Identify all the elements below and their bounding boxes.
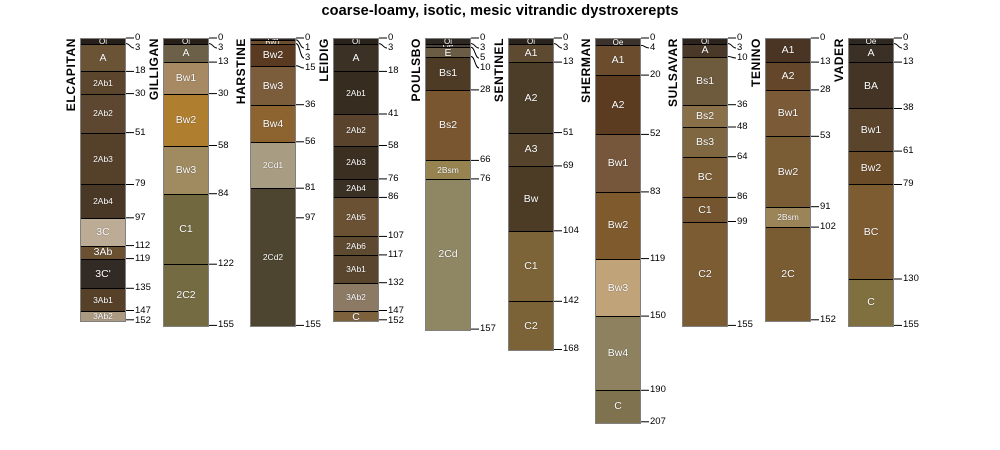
horizon-segment[interactable]: 2Cd1	[251, 143, 295, 189]
horizon-segment[interactable]: Bw3	[164, 147, 208, 195]
depth-tick-label: 157	[480, 324, 496, 334]
horizon-label: BC	[849, 227, 893, 238]
horizon-label: Bw3	[251, 81, 295, 92]
horizon-label: Bw1	[164, 73, 208, 84]
horizon-segment[interactable]: 2Ab3	[81, 134, 125, 186]
horizon-label: Oe	[596, 39, 640, 46]
depth-tick-label: 155	[305, 320, 321, 330]
horizon-segment[interactable]: 2Ab1	[334, 72, 378, 115]
horizon-segment[interactable]: Bw2	[251, 45, 295, 67]
profile-name-label: SHERMAN	[579, 38, 593, 103]
depth-tick-label: 20	[650, 70, 661, 80]
horizon-label: A	[683, 45, 727, 56]
page-title: coarse-loamy, isotic, mesic vitrandic dy…	[0, 3, 1000, 19]
profile-bar: OeA1A2Bw1Bw2Bw3Bw4C	[595, 38, 641, 424]
horizon-label: 2C2	[164, 290, 208, 301]
horizon-segment[interactable]: Bw2	[596, 193, 640, 260]
soil-profile-chart: coarse-loamy, isotic, mesic vitrandic dy…	[0, 0, 1000, 450]
horizon-segment[interactable]: Bw1	[849, 109, 893, 152]
horizon-segment[interactable]: 2Ab2	[334, 115, 378, 147]
horizon-segment[interactable]: C	[596, 391, 640, 423]
depth-tick-label: 79	[135, 179, 146, 189]
depth-tick-label: 51	[563, 128, 574, 138]
depth-tick-label: 28	[480, 85, 491, 95]
horizon-segment[interactable]: Bw4	[251, 106, 295, 143]
depth-tick-label: 91	[820, 202, 831, 212]
horizon-label: A1	[596, 55, 640, 66]
horizon-label: 2Ab1	[334, 89, 378, 98]
horizon-label: Bw	[509, 194, 553, 205]
horizon-segment[interactable]: 2Ab2	[81, 95, 125, 134]
horizon-label: Bs1	[683, 76, 727, 87]
profile-bar: A1A2Bw1Bw22Bsm2C	[765, 38, 811, 322]
depth-tick-label: 130	[903, 274, 919, 284]
depth-tick-label: 13	[903, 57, 914, 67]
depth-tick-label: 102	[820, 222, 836, 232]
profile-name-label: POULSBO	[409, 38, 423, 102]
horizon-segment[interactable]: Bw	[509, 167, 553, 232]
horizon-segment[interactable]: A	[849, 45, 893, 64]
horizon-label: 2Bsm	[766, 213, 810, 222]
horizon-segment[interactable]: 2Bsm	[766, 208, 810, 228]
horizon-label: 3Ab2	[334, 293, 378, 302]
horizon-segment[interactable]: C2	[509, 302, 553, 350]
horizon-label: 3Ab2	[81, 312, 125, 321]
horizon-segment[interactable]: 2Bsm	[426, 161, 470, 180]
horizon-segment[interactable]: A	[683, 45, 727, 58]
horizon-label: C2	[509, 321, 553, 332]
horizon-label: 3Ab1	[81, 296, 125, 305]
horizon-segment[interactable]: A2	[509, 63, 553, 133]
depth-tick-label: 99	[737, 217, 748, 227]
profile-name-label: SENTINEL	[492, 38, 506, 102]
horizon-label: 2Ab3	[81, 155, 125, 164]
profile-bar: OiA1A2A3BwC1C2	[508, 38, 554, 351]
depth-tick-label: 58	[218, 141, 229, 151]
depth-tick-label: 147	[135, 306, 151, 316]
depth-tick-label: 142	[563, 296, 579, 306]
depth-tick-label: 10	[737, 53, 748, 63]
depth-tick-label: 207	[650, 417, 666, 427]
horizon-label: 2Ab4	[334, 184, 378, 193]
horizon-segment[interactable]: BC	[683, 158, 727, 199]
horizon-label: 2Ab4	[81, 197, 125, 206]
horizon-label: 2Ab5	[334, 213, 378, 222]
depth-tick-label: 84	[218, 189, 229, 199]
horizon-label: 2Cd2	[251, 253, 295, 262]
horizon-segment[interactable]: 3Ab	[81, 247, 125, 260]
depth-tick-label: 76	[480, 174, 491, 184]
horizon-label: BC	[683, 172, 727, 183]
profile-bar: OiABs1Bs2Bs3BCC1C2	[682, 38, 728, 327]
horizon-label: 2Ab6	[334, 242, 378, 251]
horizon-label: C	[849, 297, 893, 308]
horizon-label: 3Ab	[81, 247, 125, 258]
horizon-label: C	[596, 401, 640, 412]
horizon-label: A3	[509, 144, 553, 155]
horizon-segment[interactable]: Bs3	[683, 128, 727, 158]
depth-tick-label: 76	[388, 174, 399, 184]
horizon-segment[interactable]: Bw3	[251, 67, 295, 106]
profile-bar: OiA2Ab12Ab22Ab32Ab43C3Ab3C'3Ab13Ab2	[80, 38, 126, 322]
horizon-segment[interactable]: 3C'	[81, 260, 125, 290]
horizon-segment[interactable]: 2Ab3	[334, 147, 378, 180]
depth-tick-label: 152	[135, 316, 151, 326]
horizon-label: 2Cd1	[251, 161, 295, 170]
depth-tick-label: 4	[650, 43, 655, 53]
depth-tick-label: 30	[218, 89, 229, 99]
horizon-label: Bw2	[766, 167, 810, 178]
horizon-label: BA	[849, 81, 893, 92]
horizon-segment[interactable]: C	[334, 312, 378, 321]
depth-tick-label: 86	[737, 192, 748, 202]
profile-bar: OiOeEBs1Bs22Bsm2Cd	[425, 38, 471, 331]
horizon-segment[interactable]: Bw1	[596, 135, 640, 192]
depth-tick-label: 3	[218, 43, 223, 53]
horizon-label: Bw3	[164, 165, 208, 176]
depth-tick-label: 79	[903, 179, 914, 189]
horizon-segment[interactable]: C	[849, 280, 893, 326]
horizon-segment[interactable]: Bw1	[766, 91, 810, 137]
depth-tick-label: 135	[135, 283, 151, 293]
horizon-label: A2	[509, 93, 553, 104]
horizon-label: Bw2	[596, 220, 640, 231]
horizon-segment[interactable]: C2	[683, 223, 727, 327]
depth-tick-label: 10	[480, 63, 491, 73]
horizon-segment[interactable]: A	[81, 45, 125, 73]
depth-tick-label: 13	[218, 57, 229, 67]
horizon-segment[interactable]: A1	[509, 45, 553, 64]
depth-tick-label: 58	[388, 141, 399, 151]
horizon-label: C1	[509, 261, 553, 272]
horizon-segment[interactable]: 2Ab5	[334, 198, 378, 237]
depth-tick-label: 3	[388, 43, 393, 53]
horizon-segment[interactable]: Bw2	[849, 152, 893, 185]
depth-tick-label: 147	[388, 306, 404, 316]
horizon-label: Bs2	[683, 111, 727, 122]
horizon-segment[interactable]: 2Ab6	[334, 237, 378, 256]
depth-tick-label: 69	[563, 161, 574, 171]
horizon-segment[interactable]: A	[334, 45, 378, 73]
horizon-segment[interactable]: Bw1	[164, 63, 208, 95]
depth-tick-label: 97	[305, 213, 316, 223]
horizon-segment[interactable]: Bw4	[596, 317, 640, 391]
profile-name-label: GILLIGAN	[147, 38, 161, 100]
horizon-segment[interactable]: 3Ab2	[81, 312, 125, 321]
horizon-label: 2Ab2	[81, 109, 125, 118]
horizon-segment[interactable]: Oe	[596, 39, 640, 46]
profile-name-label: VADER	[832, 38, 846, 82]
depth-tick-label: 18	[388, 66, 399, 76]
horizon-label: 3C	[81, 227, 125, 238]
horizon-label: Bw1	[766, 108, 810, 119]
profile-bar: OeABABw1Bw2BCC	[848, 38, 894, 327]
horizon-label: Bw4	[596, 348, 640, 359]
horizon-label: A1	[509, 48, 553, 59]
horizon-segment[interactable]: A3	[509, 134, 553, 167]
horizon-label: Bw2	[164, 115, 208, 126]
depth-tick-label: 132	[388, 278, 404, 288]
horizon-label: 3Ab1	[334, 265, 378, 274]
horizon-label: 2Cd	[426, 249, 470, 260]
horizon-segment[interactable]: A1	[596, 46, 640, 76]
profile-name-label: HARSTINE	[234, 38, 248, 104]
depth-tick-label: 119	[135, 254, 150, 264]
horizon-label: A	[81, 53, 125, 64]
depth-tick-label: 18	[135, 66, 146, 76]
depth-tick-label: 83	[650, 187, 661, 197]
horizon-segment[interactable]: Bs2	[683, 106, 727, 128]
horizon-label: A	[849, 48, 893, 59]
horizon-label: Bw4	[251, 119, 295, 130]
depth-tick-label: 48	[737, 122, 748, 132]
depth-tick-label: 15	[305, 63, 316, 73]
depth-axis-leaders	[894, 0, 934, 450]
horizon-label: Bw2	[849, 163, 893, 174]
depth-tick-label: 81	[305, 183, 316, 193]
depth-tick-label: 0	[820, 33, 825, 43]
depth-tick-label: 190	[650, 385, 666, 395]
horizon-label: Bw3	[596, 283, 640, 294]
depth-tick-label: 61	[903, 146, 914, 156]
horizon-label: A1	[766, 45, 810, 56]
depth-tick-label: 28	[820, 85, 831, 95]
depth-tick-label: 56	[305, 137, 316, 147]
horizon-segment[interactable]: Bs1	[683, 58, 727, 106]
profile-name-label: SULSAVAR	[666, 38, 680, 107]
depth-tick-label: 150	[650, 311, 666, 321]
horizon-segment[interactable]: Bw2	[164, 95, 208, 147]
horizon-label: 2C	[766, 269, 810, 280]
horizon-label: C1	[683, 205, 727, 216]
depth-tick-label: 152	[388, 316, 404, 326]
profile-bar: OiABw1Bw2Bw3C12C2	[163, 38, 209, 327]
depth-tick-label: 155	[903, 320, 919, 330]
horizon-label: C	[334, 312, 378, 321]
depth-tick-label: 41	[388, 109, 399, 119]
profile-name-label: ELCAPITAN	[64, 38, 78, 111]
depth-tick-label: 66	[480, 155, 491, 165]
profile-name-label: TENINO	[749, 38, 763, 87]
horizon-label: C2	[683, 269, 727, 280]
depth-tick-label: 53	[820, 131, 831, 141]
depth-tick-label: 36	[305, 100, 316, 110]
horizon-label: A2	[596, 100, 640, 111]
horizon-segment[interactable]: BC	[849, 185, 893, 280]
depth-tick-label: 3	[563, 43, 568, 53]
horizon-segment[interactable]: C1	[509, 232, 553, 302]
depth-tick-label: 13	[820, 57, 831, 67]
depth-tick-label: 51	[135, 128, 146, 138]
horizon-segment[interactable]: 2Ab4	[81, 185, 125, 218]
horizon-segment[interactable]: 2Ab1	[81, 72, 125, 94]
horizon-label: 2Ab1	[81, 79, 125, 88]
depth-tick-label: 86	[388, 192, 399, 202]
horizon-segment[interactable]: 2Ab4	[334, 180, 378, 199]
horizon-segment[interactable]: 2Cd2	[251, 189, 295, 326]
profile-bar: OeBw1Bw2Bw3Bw42Cd12Cd2	[250, 38, 296, 327]
depth-tick-label: 36	[737, 100, 748, 110]
horizon-label: E	[426, 48, 470, 57]
depth-tick-label: 155	[218, 320, 234, 330]
depth-tick-label: 107	[388, 231, 404, 241]
horizon-segment[interactable]: 3C	[81, 219, 125, 247]
horizon-segment[interactable]: 2C	[766, 228, 810, 321]
profile-name-label: LEIDIG	[317, 38, 331, 82]
horizon-label: A2	[766, 71, 810, 82]
horizon-segment[interactable]: 3Ab2	[334, 284, 378, 312]
horizon-label: 3C'	[81, 269, 125, 280]
depth-tick-label: 104	[563, 226, 579, 236]
horizon-segment[interactable]: C1	[164, 195, 208, 265]
depth-tick-label: 155	[737, 320, 753, 330]
depth-tick-label: 122	[218, 259, 234, 269]
horizon-segment[interactable]: A	[164, 45, 208, 64]
horizon-label: A	[164, 48, 208, 59]
depth-tick-label: 3	[135, 43, 140, 53]
horizon-label: Bw2	[251, 50, 295, 61]
horizon-segment[interactable]: BA	[849, 63, 893, 109]
horizon-label: Bs2	[426, 120, 470, 131]
horizon-label: Bw1	[849, 125, 893, 136]
horizon-segment[interactable]: C1	[683, 198, 727, 222]
depth-tick-label: 30	[135, 89, 146, 99]
horizon-segment[interactable]: 2Cd	[426, 180, 470, 330]
depth-tick-label: 3	[903, 43, 908, 53]
profile-bar: OiA2Ab12Ab22Ab32Ab42Ab52Ab63Ab13Ab2C	[333, 38, 379, 322]
horizon-segment[interactable]: Bs2	[426, 91, 470, 161]
horizon-label: 2Ab2	[334, 126, 378, 135]
depth-tick-label: 13	[563, 57, 574, 67]
horizon-segment[interactable]: A1	[766, 39, 810, 63]
horizon-segment[interactable]: A2	[766, 63, 810, 91]
depth-tick-label: 168	[563, 344, 579, 354]
depth-tick-label: 52	[650, 129, 661, 139]
horizon-segment[interactable]: E	[426, 48, 470, 57]
horizon-segment[interactable]: Bw3	[596, 260, 640, 317]
horizon-label: 2Bsm	[426, 166, 470, 175]
horizon-segment[interactable]: 2C2	[164, 265, 208, 326]
horizon-segment[interactable]: 3Ab1	[81, 289, 125, 311]
horizon-segment[interactable]: Bs1	[426, 58, 470, 91]
horizon-label: A	[334, 53, 378, 64]
horizon-label: 2Ab3	[334, 158, 378, 167]
horizon-segment[interactable]: A2	[596, 76, 640, 135]
depth-tick-label: 38	[903, 103, 914, 113]
depth-tick-label: 152	[820, 315, 836, 325]
horizon-segment[interactable]: Bw2	[766, 137, 810, 207]
depth-tick-label: 119	[650, 254, 665, 264]
horizon-segment[interactable]: 3Ab1	[334, 256, 378, 284]
depth-tick-label: 97	[135, 213, 146, 223]
horizon-label: C1	[164, 224, 208, 235]
horizon-label: Bs3	[683, 137, 727, 148]
depth-tick-label: 112	[135, 241, 150, 251]
horizon-label: Bw1	[596, 158, 640, 169]
horizon-label: Bs1	[426, 68, 470, 79]
depth-tick-label: 64	[737, 152, 748, 162]
depth-tick-label: 117	[388, 250, 403, 260]
